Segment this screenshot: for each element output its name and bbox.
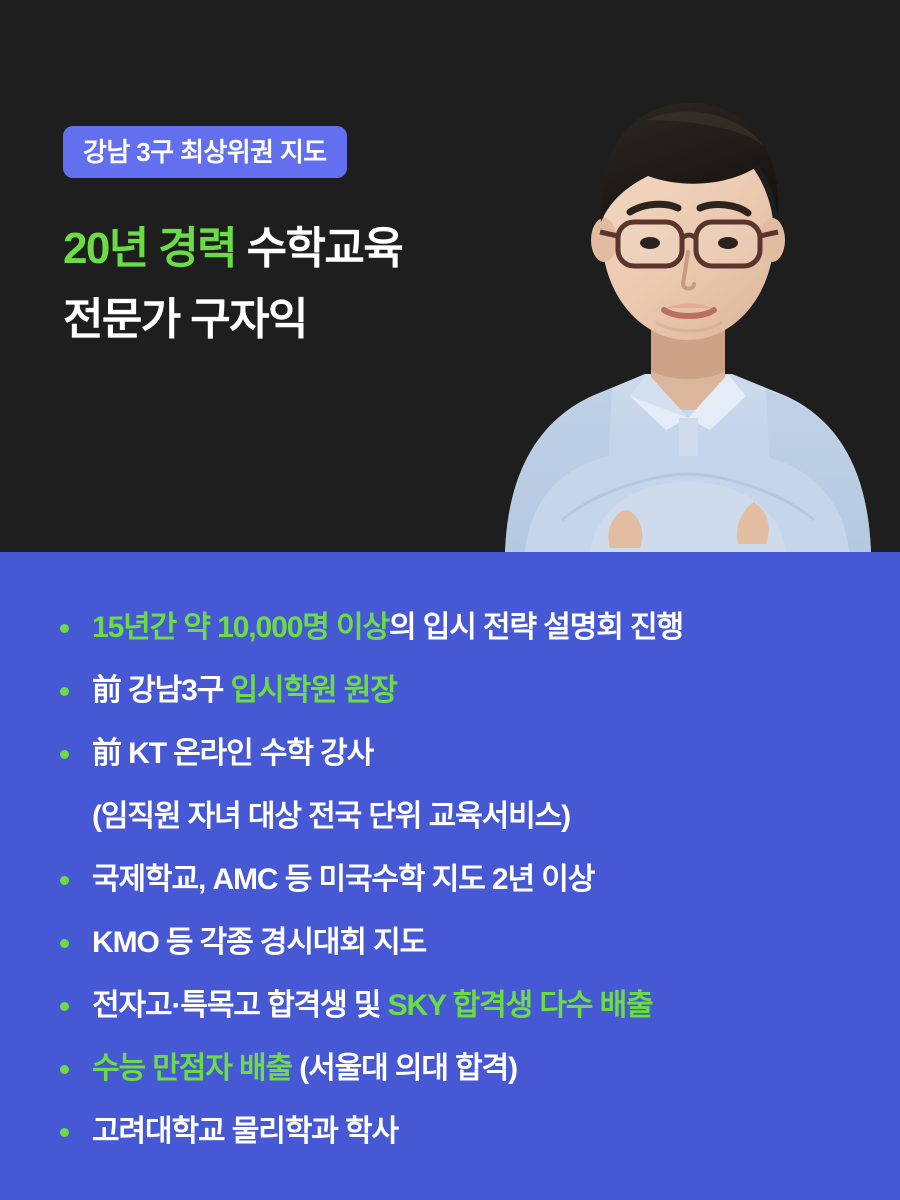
list-item-text: 전자고·특목고 합격생 및 SKY 합격생 다수 배출 xyxy=(92,991,653,1021)
credentials-list: 15년간 약 10,000명 이상의 입시 전략 설명회 진행 前 강남3구 입… xyxy=(0,552,900,1200)
hero-section: 강남 3구 최상위권 지도 20년 경력 수학교육 전문가 구자익 xyxy=(0,0,900,552)
bullet-dot-icon xyxy=(60,1065,69,1074)
list-item-plain: KMO 등 각종 경시대회 지도 xyxy=(92,926,426,959)
list-item-accent: 수능 만점자 배출 xyxy=(92,1052,292,1085)
list-item-text: 고려대학교 물리학과 학사 xyxy=(92,1117,398,1147)
list-item-plain: 前 강남3구 xyxy=(92,674,230,707)
list-item: 고려대학교 물리학과 학사 xyxy=(0,1100,900,1163)
list-item-plain: 前 KT 온라인 수학 강사 xyxy=(92,737,373,770)
list-item: 전자고·특목고 합격생 및 SKY 합격생 다수 배출 xyxy=(0,974,900,1037)
badge-label: 강남 3구 최상위권 지도 xyxy=(83,139,327,165)
list-item: 15년간 약 10,000명 이상의 입시 전략 설명회 진행 xyxy=(0,596,900,659)
instructor-portrait-image xyxy=(470,0,900,552)
bullet-dot-icon xyxy=(60,624,69,633)
list-item: 前 KT 온라인 수학 강사 xyxy=(0,722,900,785)
list-item-accent: SKY 합격생 다수 배출 xyxy=(388,989,653,1022)
status-badge: 강남 3구 최상위권 지도 xyxy=(63,126,347,178)
headline-accent: 20년 경력 xyxy=(63,224,236,273)
bullet-dot-icon xyxy=(60,687,69,696)
list-item: 前 강남3구 입시학원 원장 xyxy=(0,659,900,722)
list-item: 국제학교, AMC 등 미국수학 지도 2년 이상 xyxy=(0,848,900,911)
list-item-subline-text: (임직원 자녀 대상 전국 단위 교육서비스) xyxy=(92,802,570,832)
bullet-dot-icon xyxy=(60,750,69,759)
headline-line-1-rest: 수학교육 xyxy=(236,224,402,273)
instructor-profile-card: 강남 3구 최상위권 지도 20년 경력 수학교육 전문가 구자익 xyxy=(0,0,900,1200)
list-item-text: 수능 만점자 배출 (서울대 의대 합격) xyxy=(92,1054,517,1084)
list-item-plain: 고려대학교 물리학과 학사 xyxy=(92,1115,398,1148)
headline-line-1: 20년 경력 수학교육 xyxy=(63,213,402,284)
list-item-plain: 국제학교, AMC 등 미국수학 지도 2년 이상 xyxy=(92,863,594,896)
list-item-accent: 15년간 약 10,000명 이상 xyxy=(92,611,389,644)
list-item: 수능 만점자 배출 (서울대 의대 합격) xyxy=(0,1037,900,1100)
list-item: KMO 등 각종 경시대회 지도 xyxy=(0,911,900,974)
bullet-dot-icon xyxy=(60,939,69,948)
page-title: 20년 경력 수학교육 전문가 구자익 xyxy=(63,213,402,355)
list-item-plain: 의 입시 전략 설명회 진행 xyxy=(389,611,683,644)
headline-line-2: 전문가 구자익 xyxy=(63,284,402,355)
bullet-dot-icon xyxy=(60,1002,69,1011)
list-item-text: 국제학교, AMC 등 미국수학 지도 2년 이상 xyxy=(92,865,594,895)
list-item-text: 前 강남3구 입시학원 원장 xyxy=(92,676,397,706)
list-item-text: 前 KT 온라인 수학 강사 xyxy=(92,739,373,769)
list-item-text: 15년간 약 10,000명 이상의 입시 전략 설명회 진행 xyxy=(92,613,683,643)
list-item-accent: 입시학원 원장 xyxy=(230,674,396,707)
bullet-dot-icon xyxy=(60,1128,69,1137)
list-item-subline: (임직원 자녀 대상 전국 단위 교육서비스) xyxy=(0,785,900,848)
list-item-text: KMO 등 각종 경시대회 지도 xyxy=(92,928,426,958)
bullet-dot-icon xyxy=(60,876,69,885)
list-item-plain: (서울대 의대 합격) xyxy=(292,1052,517,1085)
list-item-plain: 전자고·특목고 합격생 및 xyxy=(92,989,388,1022)
